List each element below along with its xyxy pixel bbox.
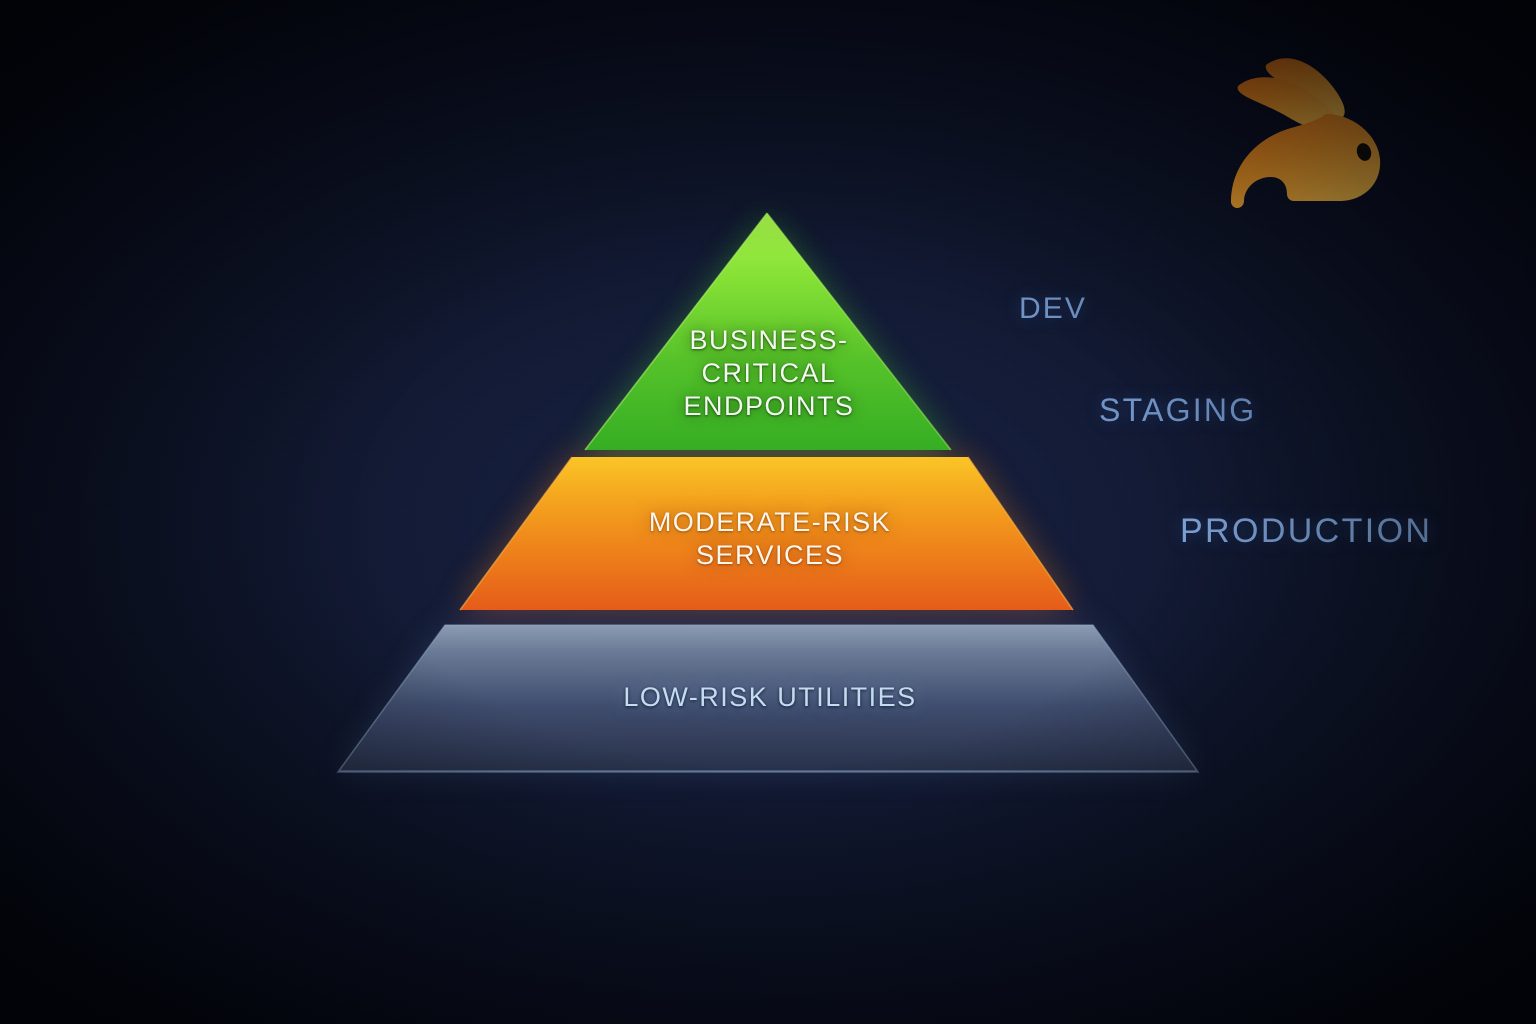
diagram-canvas: BUSINESS- CRITICAL ENDPOINTS MODERATE-RI…: [0, 0, 1536, 1024]
rabbit-icon: [1231, 58, 1380, 208]
pyramid-tier-middle[interactable]: [460, 457, 1073, 610]
pyramid-tier-top[interactable]: [585, 213, 951, 450]
rabbit-logo: [1230, 38, 1400, 218]
pyramid-tier-base[interactable]: [338, 625, 1198, 772]
